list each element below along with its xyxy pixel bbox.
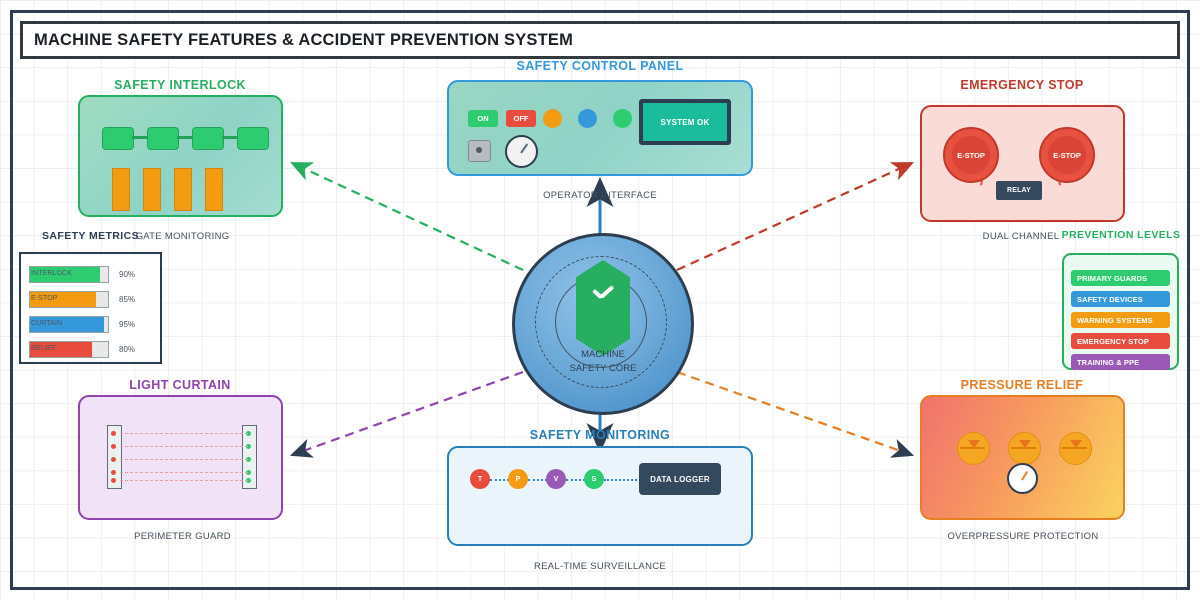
toggle-switch-icon[interactable] [468, 140, 491, 162]
interlock-gate-bar [112, 168, 130, 211]
emitter-dot [111, 478, 116, 483]
pressure-gauge-icon [1007, 463, 1038, 494]
section-title-control-panel: SAFETY CONTROL PANEL [450, 59, 750, 73]
core-label-line2: SAFETY CORE [570, 363, 637, 374]
light-beam [120, 446, 248, 447]
led-orange-icon [543, 109, 562, 128]
section-title-safety-monitoring: SAFETY MONITORING [450, 428, 750, 442]
light-beam [120, 433, 248, 434]
metric-row: CURTAIN 95% [29, 316, 129, 333]
prevention-level-item[interactable]: EMERGENCY STOP [1071, 333, 1170, 349]
metric-value: 85% [119, 295, 135, 304]
core-label: MACHINE SAFETY CORE [515, 348, 691, 376]
section-title-interlock: SAFETY INTERLOCK [80, 78, 280, 92]
sensor-node-vibration[interactable]: V [546, 469, 566, 489]
on-button[interactable]: ON [468, 110, 498, 127]
light-beam [120, 472, 248, 473]
relief-valve-icon [957, 432, 990, 465]
light-beam [120, 480, 248, 481]
interlock-link [132, 136, 147, 139]
metric-label: CURTAIN [31, 320, 62, 327]
core-label-line1: MACHINE [581, 349, 625, 360]
interlock-gate-bar [143, 168, 161, 211]
estop-label: E-STOP [957, 151, 985, 160]
caption-control-panel: OPERATOR INTERFACE [527, 190, 673, 201]
sensor-node-pressure[interactable]: P [508, 469, 528, 489]
relief-valve-icon [1008, 432, 1041, 465]
relay-module: RELAY [996, 181, 1042, 200]
section-title-emergency-stop: EMERGENCY STOP [922, 78, 1122, 92]
caption-light-curtain: PERIMETER GUARD [110, 531, 255, 542]
emitter-dot [111, 470, 116, 475]
interlock-link [177, 136, 192, 139]
estop-button-right[interactable]: E-STOP [1039, 127, 1095, 183]
caption-pressure-relief: OVERPRESSURE PROTECTION [930, 531, 1116, 542]
metric-row: INTERLOCK 90% [29, 266, 129, 283]
emitter-dot [111, 457, 116, 462]
system-status-display: SYSTEM OK [639, 99, 731, 145]
panel-light-curtain[interactable] [78, 395, 283, 520]
led-blue-icon [578, 109, 597, 128]
panel-safety-monitoring[interactable] [447, 446, 753, 546]
metric-row: E-STOP 85% [29, 291, 129, 308]
prevention-level-item[interactable]: PRIMARY GUARDS [1071, 270, 1170, 286]
section-title-pressure-relief: PRESSURE RELIEF [922, 378, 1122, 392]
emitter-dot [111, 444, 116, 449]
estop-label: E-STOP [1053, 151, 1081, 160]
metric-value: 90% [119, 270, 135, 279]
metric-label: RELIEF [31, 345, 56, 352]
section-title-prevention-levels: PREVENTION LEVELS [1060, 229, 1182, 241]
shield-check-icon [576, 260, 630, 356]
metric-row: RELIEF 80% [29, 341, 129, 358]
emitter-dot [111, 431, 116, 436]
panel-safety-interlock[interactable] [78, 95, 283, 217]
checkmark-icon [591, 288, 615, 300]
section-title-safety-metrics: SAFETY METRICS [19, 230, 162, 242]
interlock-gate-bar [174, 168, 192, 211]
relief-valve-icon [1059, 432, 1092, 465]
metric-label: E-STOP [31, 295, 58, 302]
interlock-chip [192, 127, 224, 150]
metric-label: INTERLOCK [31, 270, 72, 277]
panel-pressure-relief[interactable] [920, 395, 1125, 520]
prevention-level-item[interactable]: TRAINING & PPE [1071, 354, 1170, 370]
prevention-level-item[interactable]: SAFETY DEVICES [1071, 291, 1170, 307]
metric-value: 80% [119, 345, 135, 354]
off-button[interactable]: OFF [506, 110, 536, 127]
interlock-chip [147, 127, 179, 150]
interlock-link [222, 136, 237, 139]
sensor-node-temperature[interactable]: T [470, 469, 490, 489]
title-bar: MACHINE SAFETY FEATURES & ACCIDENT PREVE… [20, 21, 1180, 59]
interlock-chip [102, 127, 134, 150]
page-title: MACHINE SAFETY FEATURES & ACCIDENT PREVE… [23, 31, 573, 50]
interlock-chip [237, 127, 269, 150]
estop-button-left[interactable]: E-STOP [943, 127, 999, 183]
sensor-link [604, 479, 644, 481]
prevention-level-item[interactable]: WARNING SYSTEMS [1071, 312, 1170, 328]
sensor-node-speed[interactable]: S [584, 469, 604, 489]
machine-safety-core[interactable]: MACHINE SAFETY CORE [512, 233, 694, 415]
light-beam [120, 459, 248, 460]
rotary-knob-icon[interactable] [505, 135, 538, 168]
caption-safety-monitoring: REAL-TIME SURVEILLANCE [502, 561, 698, 572]
led-green-icon [613, 109, 632, 128]
metric-value: 95% [119, 320, 135, 329]
data-logger-module[interactable]: DATA LOGGER [639, 463, 721, 495]
diagram-canvas: MACHINE SAFETY FEATURES & ACCIDENT PREVE… [0, 0, 1200, 600]
interlock-gate-bar [205, 168, 223, 211]
section-title-light-curtain: LIGHT CURTAIN [80, 378, 280, 392]
panel-safety-metrics: INTERLOCK 90% E-STOP 85% CURTAIN 95% REL… [19, 252, 162, 364]
